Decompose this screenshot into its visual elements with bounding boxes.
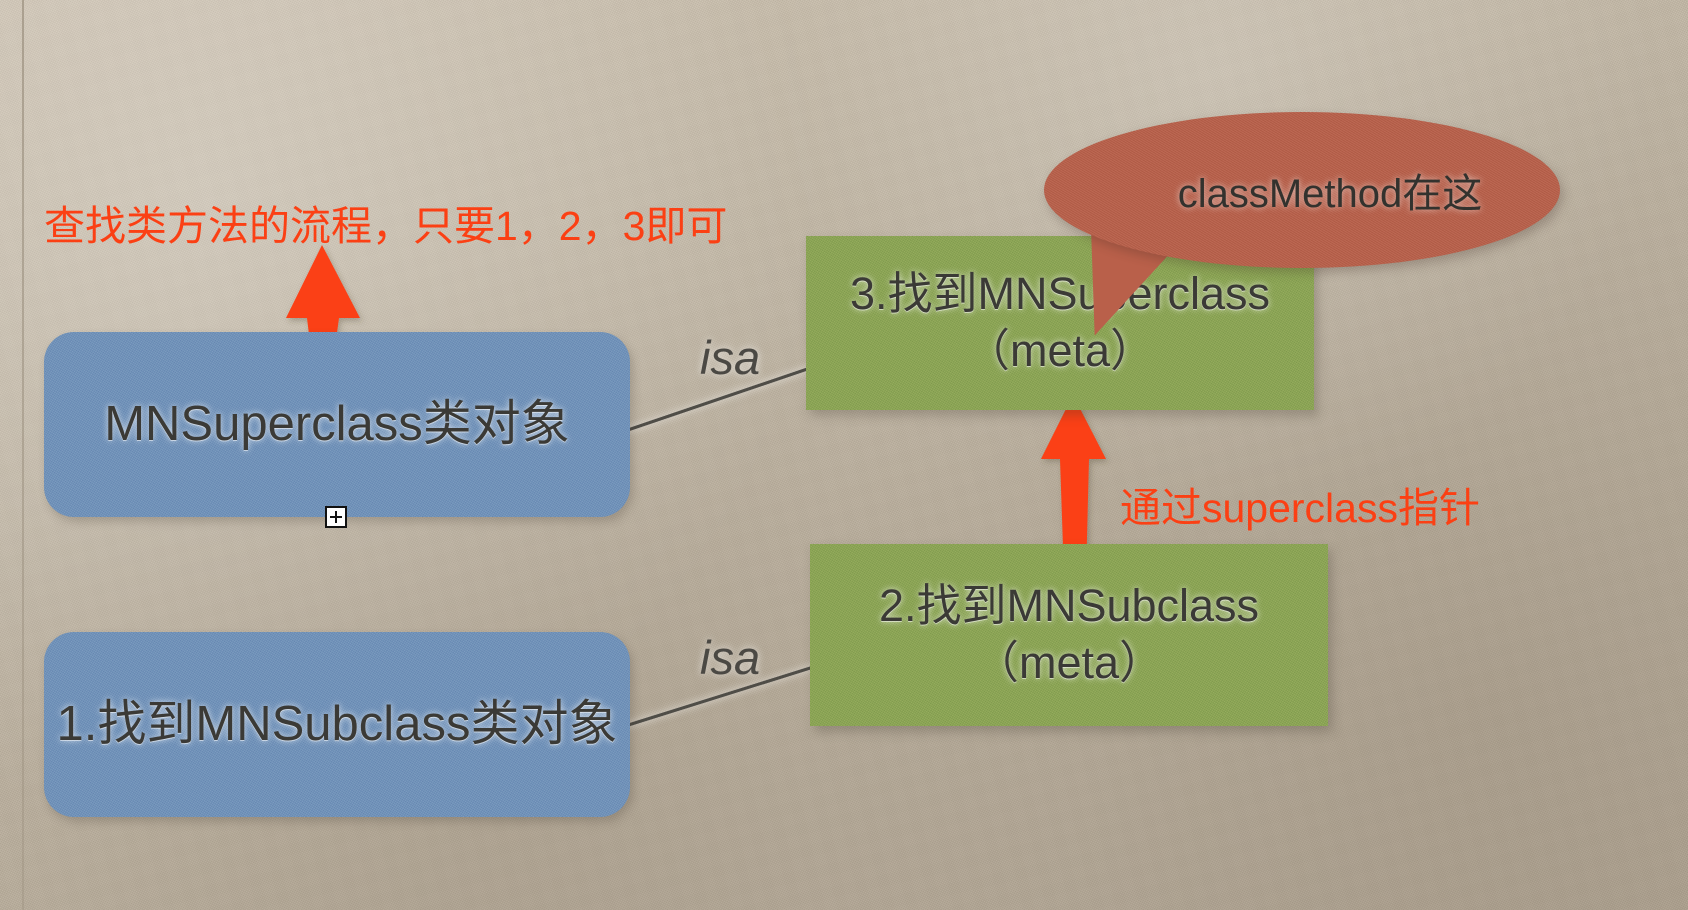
- annotation-superclass-pointer: 通过superclass指针: [1120, 474, 1480, 534]
- box-mnsubclass-meta-line1: 2.找到MNSubclass: [879, 578, 1259, 635]
- box-mnsuperclass-meta-line2: （meta）: [850, 323, 1270, 380]
- diagram-canvas: 查找类方法的流程，只要1，2，3即可 通过superclass指针 MNSupe…: [0, 0, 1688, 910]
- box-mnsuperclass-class-object-label: MNSuperclass类对象: [104, 394, 570, 456]
- box-mnsubclass-class-object-label: 1.找到MNSubclass类对象: [57, 694, 618, 756]
- crosshair-cursor-icon: [325, 506, 347, 528]
- speech-bubble-label: classMethod在这: [1044, 112, 1560, 268]
- box-mnsubclass-meta-line2: （meta）: [879, 635, 1259, 692]
- speech-bubble-classmethod[interactable]: classMethod在这: [1044, 112, 1560, 268]
- crosshair-vertical-bar: [335, 511, 337, 523]
- page-edge-line: [22, 0, 24, 910]
- isa-label-bottom: isa: [700, 630, 760, 685]
- box-mnsubclass-class-object[interactable]: 1.找到MNSubclass类对象: [44, 632, 630, 817]
- box-mnsubclass-meta-text: 2.找到MNSubclass （meta）: [879, 578, 1259, 691]
- annotation-lookup-flow: 查找类方法的流程，只要1，2，3即可: [44, 192, 727, 252]
- box-mnsuperclass-class-object[interactable]: MNSuperclass类对象: [44, 332, 630, 517]
- isa-label-top: isa: [700, 330, 760, 385]
- box-mnsubclass-meta[interactable]: 2.找到MNSubclass （meta）: [810, 544, 1328, 726]
